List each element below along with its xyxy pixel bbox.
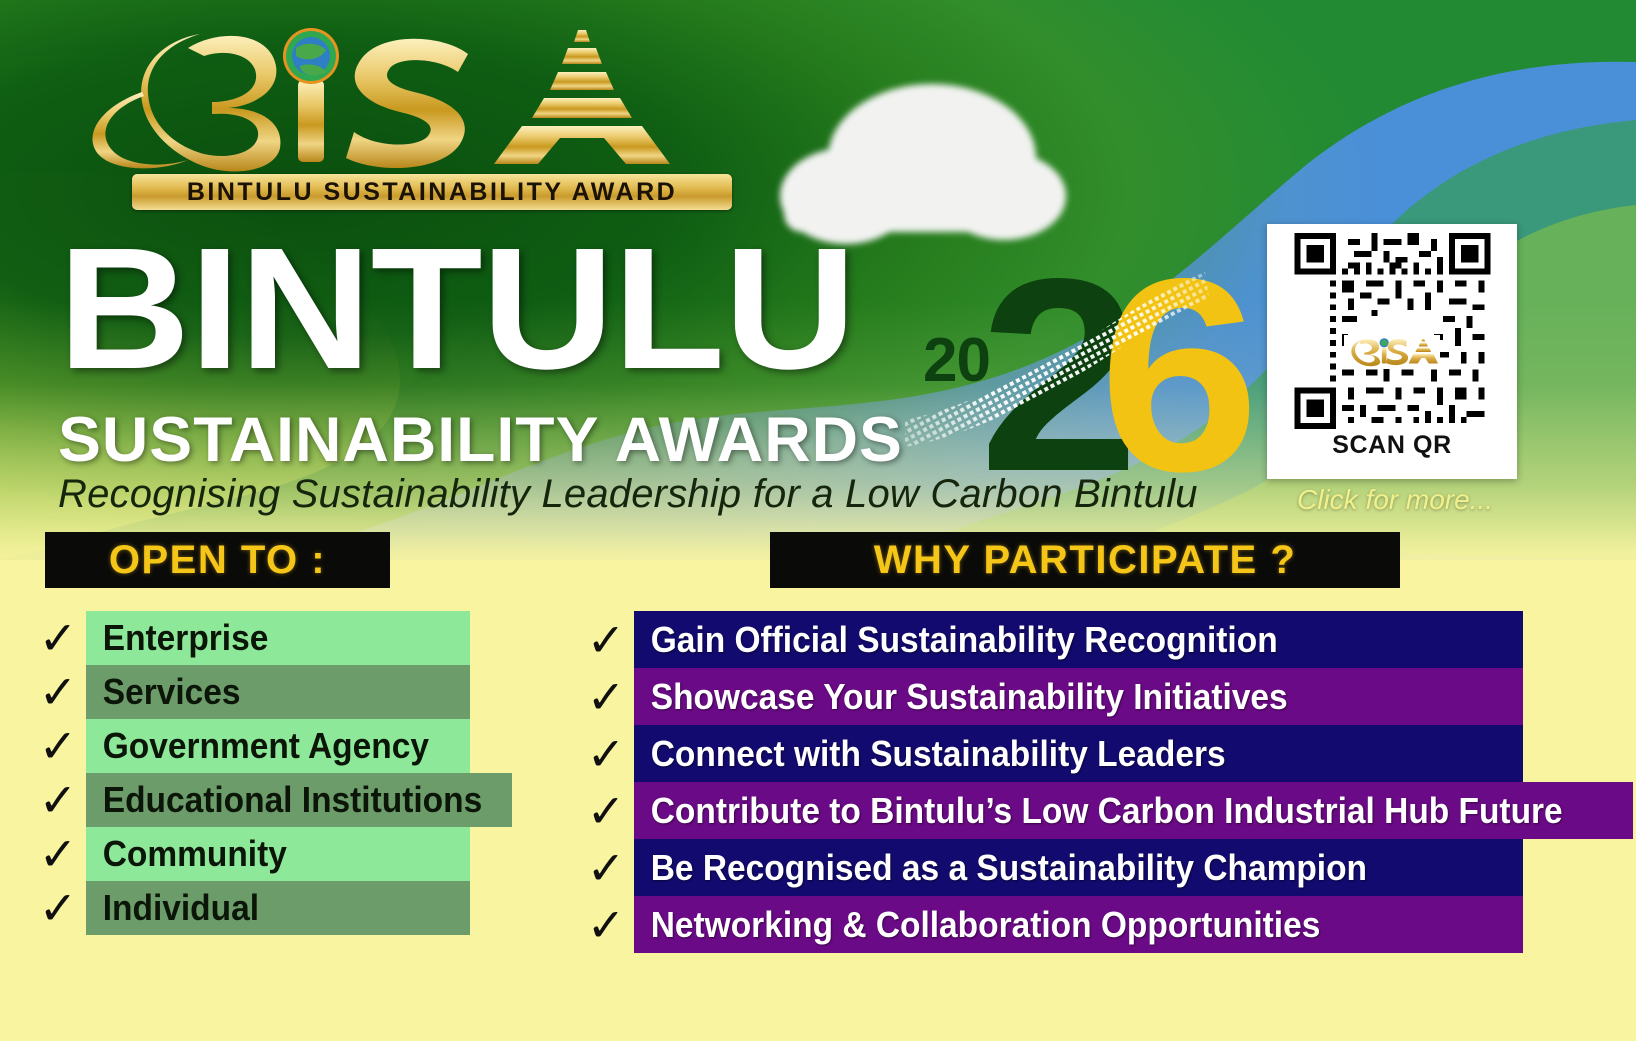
open-to-banner: OPEN TO :	[45, 532, 390, 588]
open-to-item-label: Services	[86, 671, 241, 713]
open-to-item-label: Community	[86, 833, 287, 875]
qr-label: SCAN QR	[1332, 431, 1451, 460]
year-badge: 2 6 20	[905, 232, 1215, 522]
open-to-item-label: Government Agency	[86, 725, 429, 767]
check-icon: ✓	[578, 731, 634, 777]
qr-code-icon[interactable]	[1286, 233, 1499, 429]
check-icon: ✓	[30, 885, 86, 931]
list-item: ✓ Contribute to Bintulu’s Low Carbon Ind…	[578, 782, 1523, 839]
check-icon: ✓	[578, 902, 634, 948]
why-item-label: Showcase Your Sustainability Initiatives	[634, 676, 1288, 718]
open-to-item-label: Educational Institutions	[86, 779, 482, 821]
open-to-list: ✓ Enterprise ✓ Services ✓ Government Age…	[30, 611, 470, 935]
list-item: ✓ Educational Institutions	[30, 773, 470, 827]
logo-wordmark-text: BINTULU SUSTAINABILITY AWARD	[187, 178, 677, 207]
bisa-monogram-icon	[70, 22, 680, 172]
list-item: ✓ Community	[30, 827, 470, 881]
why-item-label: Connect with Sustainability Leaders	[634, 733, 1226, 775]
check-icon: ✓	[30, 777, 86, 823]
page-title: BINTULU	[58, 228, 855, 389]
check-icon: ✓	[578, 617, 634, 663]
page-subtitle: SUSTAINABILITY AWARDS	[58, 404, 903, 476]
check-icon: ✓	[578, 674, 634, 720]
poster-root: BINTULU SUSTAINABILITY AWARD BINTULU SUS…	[0, 0, 1636, 1041]
open-to-item-label: Enterprise	[86, 617, 268, 659]
check-icon: ✓	[578, 788, 634, 834]
check-icon: ✓	[578, 845, 634, 891]
qr-code-card[interactable]: SCAN QR	[1267, 224, 1517, 479]
list-item: ✓ Networking & Collaboration Opportuniti…	[578, 896, 1523, 953]
list-item: ✓ Government Agency	[30, 719, 470, 773]
check-icon: ✓	[30, 669, 86, 715]
check-icon: ✓	[30, 615, 86, 661]
list-item: ✓ Individual	[30, 881, 470, 935]
why-item-label: Be Recognised as a Sustainability Champi…	[634, 847, 1367, 889]
why-item-label: Gain Official Sustainability Recognition	[634, 619, 1278, 661]
halftone-streak-icon	[905, 232, 1215, 522]
why-item-label: Networking & Collaboration Opportunities	[634, 904, 1320, 946]
qr-bisa-logo-icon	[1346, 337, 1438, 367]
list-item: ✓ Gain Official Sustainability Recogniti…	[578, 611, 1523, 668]
list-item: ✓ Enterprise	[30, 611, 470, 665]
qr-click-hint[interactable]: Click for more...	[1297, 484, 1493, 516]
qr-embedded-logo	[1344, 335, 1440, 369]
list-item: ✓ Connect with Sustainability Leaders	[578, 725, 1523, 782]
check-icon: ✓	[30, 723, 86, 769]
list-item: ✓ Showcase Your Sustainability Initiativ…	[578, 668, 1523, 725]
list-item: ✓ Services	[30, 665, 470, 719]
why-item-label: Contribute to Bintulu’s Low Carbon Indus…	[634, 790, 1563, 832]
logo-wordmark-bar: BINTULU SUSTAINABILITY AWARD	[132, 174, 732, 210]
check-icon: ✓	[30, 831, 86, 877]
why-participate-banner: WHY PARTICIPATE ?	[770, 532, 1400, 588]
open-to-heading: OPEN TO :	[109, 538, 326, 583]
why-participate-list: ✓ Gain Official Sustainability Recogniti…	[578, 611, 1523, 953]
why-participate-heading: WHY PARTICIPATE ?	[874, 538, 1297, 583]
bisa-logo: BINTULU SUSTAINABILITY AWARD	[70, 22, 680, 217]
list-item: ✓ Be Recognised as a Sustainability Cham…	[578, 839, 1523, 896]
open-to-item-label: Individual	[86, 887, 259, 929]
